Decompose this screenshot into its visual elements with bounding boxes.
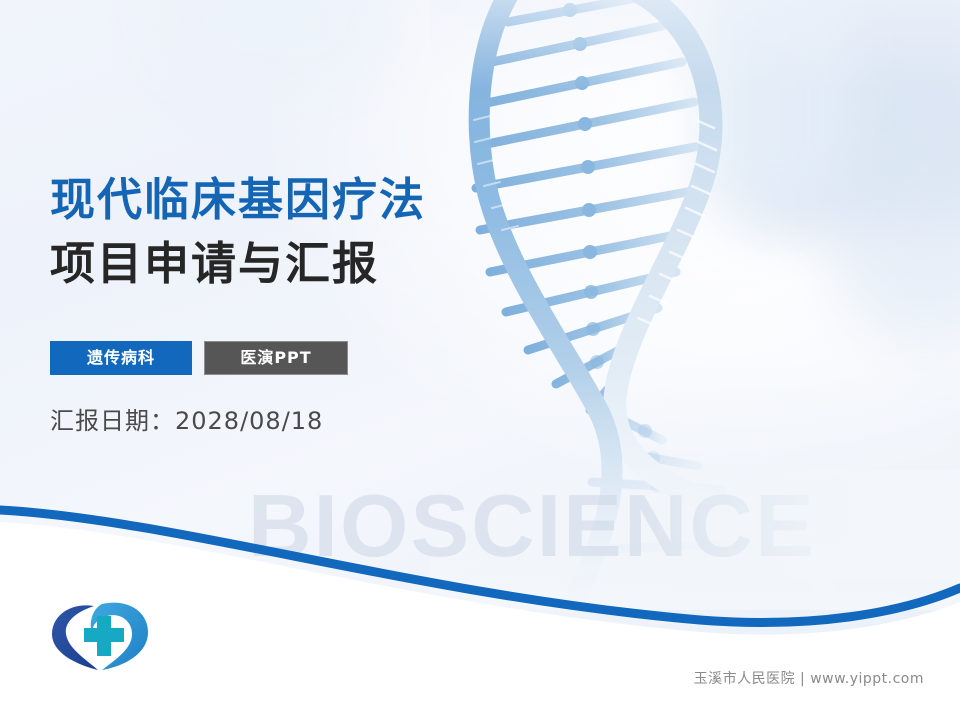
slide-canvas: BIOSCIENCE 现代临床基因疗法 项目申请与汇报 遗传病科 医演PPT 汇…	[0, 0, 960, 720]
background-glass-shape-3	[830, 150, 960, 340]
watermark-fade-overlay	[640, 470, 960, 580]
footer-credit: 玉溪市人民医院 | www.yippt.com	[694, 668, 924, 688]
badge-group: 遗传病科 医演PPT	[50, 341, 348, 375]
background-glass-shape-1	[740, 0, 960, 230]
slide-title: 现代临床基因疗法 项目申请与汇报	[50, 168, 426, 296]
background-glass-shape-2	[700, 0, 850, 210]
bioscience-watermark: BIOSCIENCE	[248, 482, 816, 570]
badge-template-brand[interactable]: 医演PPT	[204, 341, 348, 375]
title-line-1: 现代临床基因疗法	[50, 168, 426, 232]
background-glow-top	[150, 0, 390, 100]
title-line-2: 项目申请与汇报	[50, 232, 426, 296]
badge-department[interactable]: 遗传病科	[50, 341, 192, 375]
report-date: 汇报日期：2028/08/18	[50, 401, 323, 436]
heart-cross-hospital-logo-icon	[44, 596, 164, 672]
dna-double-helix-icon	[430, 0, 960, 610]
